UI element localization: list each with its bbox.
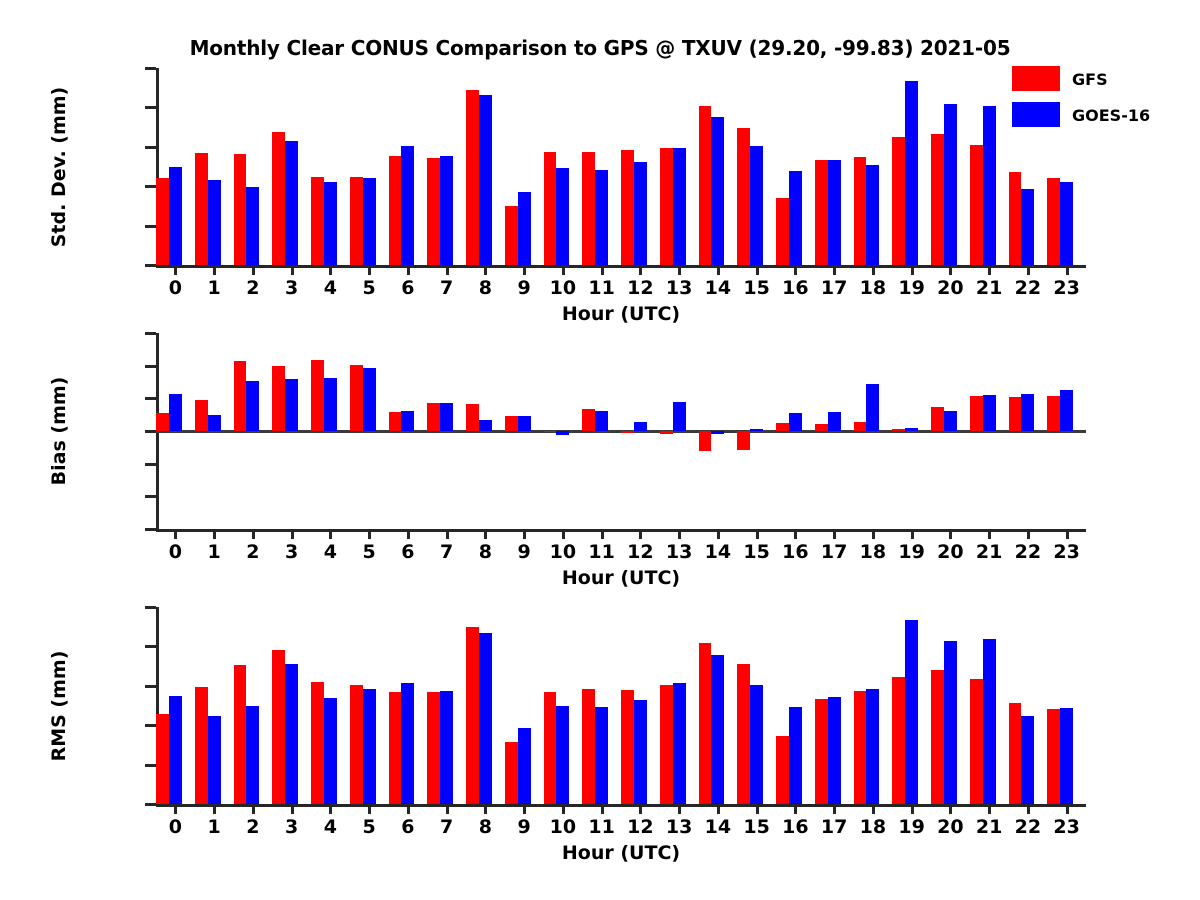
x-axis-tick-label: 17 xyxy=(821,541,847,563)
bar-goes-16-hour-5 xyxy=(363,178,376,265)
x-axis-tick-label: 22 xyxy=(1015,541,1041,563)
bar-goes-16-hour-16 xyxy=(789,413,802,431)
x-axis-tick xyxy=(562,529,565,539)
x-axis-tick xyxy=(639,265,642,275)
x-axis-tick-label: 6 xyxy=(401,541,414,563)
bar-goes-16-hour-14 xyxy=(711,117,724,265)
x-axis-tick-label: 9 xyxy=(518,816,531,838)
bar-gfs-hour-8 xyxy=(466,404,479,431)
bar-goes-16-hour-21 xyxy=(983,395,996,431)
x-axis-tick xyxy=(329,265,332,275)
x-axis-tick-label: 16 xyxy=(782,541,808,563)
figure-canvas: Monthly Clear CONUS Comparison to GPS @ … xyxy=(0,0,1200,900)
x-axis-tick xyxy=(252,804,255,814)
x-axis-tick-label: 1 xyxy=(208,277,221,299)
bar-gfs-hour-9 xyxy=(505,416,518,431)
x-axis-tick xyxy=(794,804,797,814)
bar-gfs-hour-19 xyxy=(892,137,905,265)
x-axis-tick-label: 13 xyxy=(666,816,692,838)
y-axis-tick xyxy=(145,803,156,806)
y-axis-tick xyxy=(145,685,156,688)
bar-gfs-hour-21 xyxy=(970,145,983,265)
x-axis-tick xyxy=(601,804,604,814)
x-axis-tick-label: 12 xyxy=(627,541,653,563)
x-axis-tick-label: 14 xyxy=(705,816,731,838)
x-axis-tick xyxy=(329,804,332,814)
bar-goes-16-hour-12 xyxy=(634,162,647,265)
x-axis-tick xyxy=(174,804,177,814)
y-axis-tick xyxy=(145,106,156,109)
x-axis-tick xyxy=(639,529,642,539)
bar-goes-16-hour-9 xyxy=(518,728,531,804)
bar-goes-16-hour-11 xyxy=(595,170,608,265)
x-axis-tick xyxy=(407,804,410,814)
x-axis-tick-label: 11 xyxy=(588,277,614,299)
x-axis-line xyxy=(156,529,1086,532)
bar-goes-16-hour-9 xyxy=(518,192,531,265)
x-axis-tick-label: 10 xyxy=(550,816,576,838)
bar-goes-16-hour-12 xyxy=(634,422,647,431)
y-axis-title: Std. Dev. (mm) xyxy=(48,68,70,265)
bar-goes-16-hour-4 xyxy=(324,378,337,431)
bar-gfs-hour-10 xyxy=(544,692,557,804)
x-axis-tick xyxy=(368,529,371,539)
bar-gfs-hour-18 xyxy=(854,157,867,265)
x-axis-tick-label: 13 xyxy=(666,277,692,299)
y-axis-tick xyxy=(145,463,156,466)
bar-gfs-hour-20 xyxy=(931,407,944,432)
bar-gfs-hour-14 xyxy=(699,643,712,804)
x-axis-line xyxy=(156,265,1086,268)
x-axis-tick-label: 8 xyxy=(479,541,492,563)
panel-bias: -3-2-10123012345678910111213141516171819… xyxy=(156,333,1086,529)
bar-gfs-hour-12 xyxy=(621,690,634,804)
x-axis-tick-label: 4 xyxy=(324,816,337,838)
y-axis-tick xyxy=(145,764,156,767)
bar-gfs-hour-22 xyxy=(1009,703,1022,804)
bar-gfs-hour-4 xyxy=(311,360,324,431)
x-axis-title: Hour (UTC) xyxy=(156,303,1086,325)
x-axis-tick-label: 21 xyxy=(976,277,1002,299)
bar-goes-16-hour-9 xyxy=(518,416,531,431)
bar-goes-16-hour-23 xyxy=(1060,708,1073,804)
x-axis-tick-label: 19 xyxy=(898,541,924,563)
bar-goes-16-hour-20 xyxy=(944,641,957,804)
x-axis-tick-label: 5 xyxy=(363,277,376,299)
x-axis-tick-label: 18 xyxy=(860,541,886,563)
bar-goes-16-hour-12 xyxy=(634,700,647,804)
x-axis-tick xyxy=(756,529,759,539)
bar-gfs-hour-0 xyxy=(156,413,169,431)
bar-gfs-hour-4 xyxy=(311,177,324,265)
bar-goes-16-hour-17 xyxy=(828,160,841,265)
x-axis-tick xyxy=(678,804,681,814)
y-axis-tick xyxy=(145,397,156,400)
bar-goes-16-hour-21 xyxy=(983,106,996,265)
x-axis-tick xyxy=(562,265,565,275)
x-axis-tick xyxy=(174,265,177,275)
bar-gfs-hour-8 xyxy=(466,627,479,804)
bar-goes-16-hour-18 xyxy=(866,165,879,265)
bar-goes-16-hour-22 xyxy=(1021,394,1034,431)
x-axis-tick-label: 10 xyxy=(550,277,576,299)
x-axis-line xyxy=(156,804,1086,807)
x-axis-tick xyxy=(523,265,526,275)
x-axis-tick xyxy=(717,265,720,275)
x-axis-tick xyxy=(446,265,449,275)
bar-goes-16-hour-0 xyxy=(169,394,182,431)
x-axis-tick-label: 23 xyxy=(1053,277,1079,299)
bar-goes-16-hour-22 xyxy=(1021,189,1034,265)
x-axis-tick-label: 0 xyxy=(169,816,182,838)
x-axis-tick xyxy=(949,265,952,275)
x-axis-tick xyxy=(872,265,875,275)
x-axis-tick xyxy=(446,804,449,814)
y-axis-tick xyxy=(145,332,156,335)
x-axis-tick-label: 12 xyxy=(627,277,653,299)
x-axis-tick xyxy=(794,265,797,275)
x-axis-tick xyxy=(368,804,371,814)
x-axis-tick xyxy=(1027,265,1030,275)
bar-gfs-hour-6 xyxy=(389,692,402,804)
x-axis-tick-label: 15 xyxy=(743,541,769,563)
bar-gfs-hour-21 xyxy=(970,396,983,431)
bar-goes-16-hour-8 xyxy=(479,420,492,431)
bar-goes-16-hour-7 xyxy=(440,403,453,431)
bar-gfs-hour-10 xyxy=(544,152,557,265)
bar-goes-16-hour-1 xyxy=(208,180,221,265)
x-axis-tick xyxy=(252,265,255,275)
x-axis-tick-label: 9 xyxy=(518,541,531,563)
bar-gfs-hour-20 xyxy=(931,670,944,804)
x-axis-title: Hour (UTC) xyxy=(156,567,1086,589)
bar-gfs-hour-5 xyxy=(350,685,363,804)
bar-gfs-hour-14 xyxy=(699,106,712,265)
bar-gfs-hour-18 xyxy=(854,691,867,804)
bar-goes-16-hour-19 xyxy=(905,620,918,804)
y-axis-title: Bias (mm) xyxy=(48,333,70,529)
bar-gfs-hour-9 xyxy=(505,206,518,265)
bar-gfs-hour-13 xyxy=(660,148,673,265)
x-axis-tick-label: 11 xyxy=(588,541,614,563)
x-axis-tick-label: 22 xyxy=(1015,277,1041,299)
x-axis-tick xyxy=(213,529,216,539)
x-axis-tick xyxy=(717,529,720,539)
x-axis-tick xyxy=(484,529,487,539)
bar-goes-16-hour-19 xyxy=(905,428,918,431)
x-axis-tick xyxy=(949,529,952,539)
x-axis-tick xyxy=(213,804,216,814)
x-axis-tick xyxy=(911,265,914,275)
panel-std-dev: 0123450123456789101112131415161718192021… xyxy=(156,68,1086,265)
x-axis-tick-label: 6 xyxy=(401,816,414,838)
x-axis-tick xyxy=(639,804,642,814)
bar-gfs-hour-18 xyxy=(854,422,867,431)
bar-goes-16-hour-7 xyxy=(440,691,453,804)
bar-gfs-hour-22 xyxy=(1009,397,1022,431)
x-axis-tick xyxy=(174,529,177,539)
x-axis-tick xyxy=(368,265,371,275)
bar-gfs-hour-19 xyxy=(892,429,905,431)
x-axis-tick-label: 1 xyxy=(208,816,221,838)
bar-gfs-hour-23 xyxy=(1047,396,1060,431)
x-axis-tick xyxy=(484,804,487,814)
x-axis-tick-label: 8 xyxy=(479,816,492,838)
bar-goes-16-hour-4 xyxy=(324,698,337,804)
bar-gfs-hour-17 xyxy=(815,424,828,431)
bar-gfs-hour-7 xyxy=(427,692,440,804)
bar-goes-16-hour-8 xyxy=(479,95,492,265)
x-axis-tick-label: 7 xyxy=(440,277,453,299)
x-axis-tick xyxy=(213,265,216,275)
bar-goes-16-hour-10 xyxy=(556,706,569,804)
bar-gfs-hour-7 xyxy=(427,403,440,431)
x-axis-tick xyxy=(291,265,294,275)
bar-goes-16-hour-16 xyxy=(789,171,802,265)
bar-goes-16-hour-17 xyxy=(828,697,841,804)
bar-gfs-hour-12 xyxy=(621,150,634,265)
x-axis-tick xyxy=(291,529,294,539)
bar-goes-16-hour-21 xyxy=(983,639,996,804)
bar-gfs-hour-10 xyxy=(544,431,557,432)
x-axis-tick xyxy=(949,804,952,814)
bar-goes-16-hour-11 xyxy=(595,411,608,431)
bar-goes-16-hour-22 xyxy=(1021,716,1034,804)
x-axis-tick-label: 7 xyxy=(440,541,453,563)
y-axis-tick xyxy=(145,225,156,228)
bar-goes-16-hour-14 xyxy=(711,431,724,434)
bar-gfs-hour-23 xyxy=(1047,178,1060,265)
x-axis-tick-label: 9 xyxy=(518,277,531,299)
x-axis-tick-label: 23 xyxy=(1053,816,1079,838)
bar-gfs-hour-16 xyxy=(776,423,789,431)
bar-gfs-hour-0 xyxy=(156,714,169,804)
x-axis-tick-label: 20 xyxy=(937,541,963,563)
x-axis-tick xyxy=(601,265,604,275)
x-axis-tick-label: 2 xyxy=(246,277,259,299)
x-axis-title: Hour (UTC) xyxy=(156,842,1086,864)
x-axis-tick xyxy=(678,265,681,275)
bar-goes-16-hour-13 xyxy=(673,683,686,804)
x-axis-tick-label: 5 xyxy=(363,816,376,838)
bar-goes-16-hour-1 xyxy=(208,716,221,804)
bar-gfs-hour-1 xyxy=(195,400,208,431)
x-axis-tick-label: 13 xyxy=(666,541,692,563)
y-axis-title: RMS (mm) xyxy=(48,607,70,804)
bar-gfs-hour-11 xyxy=(582,689,595,804)
bar-goes-16-hour-10 xyxy=(556,168,569,265)
x-axis-tick xyxy=(911,804,914,814)
bar-goes-16-hour-20 xyxy=(944,104,957,265)
x-axis-tick-label: 6 xyxy=(401,277,414,299)
y-axis-tick xyxy=(145,645,156,648)
bar-gfs-hour-15 xyxy=(737,431,750,450)
x-axis-tick xyxy=(1066,529,1069,539)
y-axis-tick xyxy=(145,606,156,609)
x-axis-tick xyxy=(833,265,836,275)
bar-goes-16-hour-20 xyxy=(944,411,957,431)
bar-gfs-hour-12 xyxy=(621,431,634,433)
bar-gfs-hour-2 xyxy=(234,361,247,431)
y-axis-tick xyxy=(145,724,156,727)
bar-goes-16-hour-0 xyxy=(169,167,182,265)
x-axis-tick xyxy=(794,529,797,539)
bar-gfs-hour-5 xyxy=(350,177,363,265)
x-axis-tick-label: 14 xyxy=(705,277,731,299)
x-axis-tick xyxy=(872,529,875,539)
bar-goes-16-hour-15 xyxy=(750,146,763,265)
x-axis-tick-label: 7 xyxy=(440,816,453,838)
bar-gfs-hour-3 xyxy=(272,366,285,431)
x-axis-tick xyxy=(601,529,604,539)
x-axis-tick-label: 8 xyxy=(479,277,492,299)
y-axis-tick xyxy=(145,430,156,433)
x-axis-tick xyxy=(678,529,681,539)
figure-title: Monthly Clear CONUS Comparison to GPS @ … xyxy=(0,36,1200,60)
x-axis-tick xyxy=(407,529,410,539)
bar-gfs-hour-6 xyxy=(389,412,402,431)
bar-goes-16-hour-1 xyxy=(208,415,221,431)
bar-goes-16-hour-15 xyxy=(750,685,763,804)
bar-gfs-hour-3 xyxy=(272,650,285,804)
bar-gfs-hour-16 xyxy=(776,736,789,804)
bar-goes-16-hour-7 xyxy=(440,156,453,265)
panel-rms: 0123450123456789101112131415161718192021… xyxy=(156,607,1086,804)
x-axis-tick-label: 20 xyxy=(937,277,963,299)
bar-goes-16-hour-18 xyxy=(866,689,879,804)
x-axis-tick-label: 0 xyxy=(169,277,182,299)
x-axis-tick-label: 3 xyxy=(285,277,298,299)
bar-goes-16-hour-17 xyxy=(828,412,841,431)
x-axis-tick xyxy=(252,529,255,539)
bar-goes-16-hour-3 xyxy=(285,664,298,804)
bar-goes-16-hour-23 xyxy=(1060,182,1073,265)
bar-goes-16-hour-16 xyxy=(789,707,802,804)
bar-gfs-hour-23 xyxy=(1047,709,1060,804)
x-axis-tick-label: 2 xyxy=(246,816,259,838)
bar-gfs-hour-15 xyxy=(737,664,750,804)
x-axis-tick-label: 10 xyxy=(550,541,576,563)
bar-gfs-hour-9 xyxy=(505,742,518,804)
bar-gfs-hour-2 xyxy=(234,154,247,265)
bar-gfs-hour-2 xyxy=(234,665,247,804)
x-axis-tick-label: 23 xyxy=(1053,541,1079,563)
x-axis-tick-label: 14 xyxy=(705,541,731,563)
bar-gfs-hour-6 xyxy=(389,156,402,265)
x-axis-tick-label: 18 xyxy=(860,816,886,838)
bar-gfs-hour-20 xyxy=(931,134,944,265)
bar-gfs-hour-21 xyxy=(970,679,983,804)
bar-gfs-hour-3 xyxy=(272,132,285,265)
bar-goes-16-hour-6 xyxy=(401,146,414,265)
bar-goes-16-hour-5 xyxy=(363,689,376,804)
bar-gfs-hour-7 xyxy=(427,158,440,265)
x-axis-tick xyxy=(872,804,875,814)
bar-gfs-hour-17 xyxy=(815,699,828,804)
x-axis-tick-label: 20 xyxy=(937,816,963,838)
x-axis-tick-label: 16 xyxy=(782,277,808,299)
bar-gfs-hour-11 xyxy=(582,152,595,265)
x-axis-tick xyxy=(1027,804,1030,814)
x-axis-tick-label: 17 xyxy=(821,816,847,838)
y-axis-tick xyxy=(145,185,156,188)
bar-goes-16-hour-2 xyxy=(246,381,259,431)
bar-gfs-hour-17 xyxy=(815,160,828,265)
x-axis-tick-label: 16 xyxy=(782,816,808,838)
bar-goes-16-hour-14 xyxy=(711,655,724,804)
x-axis-tick-label: 12 xyxy=(627,816,653,838)
bar-goes-16-hour-18 xyxy=(866,384,879,431)
x-axis-tick xyxy=(1027,529,1030,539)
bar-goes-16-hour-13 xyxy=(673,402,686,431)
bar-gfs-hour-22 xyxy=(1009,172,1022,265)
x-axis-tick-label: 4 xyxy=(324,277,337,299)
x-axis-tick xyxy=(484,265,487,275)
bar-gfs-hour-16 xyxy=(776,198,789,265)
bar-gfs-hour-11 xyxy=(582,409,595,431)
bar-gfs-hour-19 xyxy=(892,677,905,804)
bar-goes-16-hour-0 xyxy=(169,696,182,804)
bar-goes-16-hour-6 xyxy=(401,683,414,804)
bar-gfs-hour-13 xyxy=(660,685,673,804)
bar-goes-16-hour-2 xyxy=(246,187,259,265)
bar-goes-16-hour-13 xyxy=(673,148,686,265)
bar-gfs-hour-1 xyxy=(195,153,208,265)
y-axis-tick xyxy=(145,67,156,70)
bar-goes-16-hour-10 xyxy=(556,431,569,435)
x-axis-tick-label: 2 xyxy=(246,541,259,563)
bar-gfs-hour-0 xyxy=(156,178,169,265)
y-axis-tick xyxy=(145,264,156,267)
bar-goes-16-hour-19 xyxy=(905,81,918,265)
bar-goes-16-hour-11 xyxy=(595,707,608,804)
x-axis-tick-label: 0 xyxy=(169,541,182,563)
x-axis-tick-label: 15 xyxy=(743,277,769,299)
x-axis-tick-label: 21 xyxy=(976,541,1002,563)
x-axis-tick-label: 5 xyxy=(363,541,376,563)
x-axis-tick xyxy=(562,804,565,814)
x-axis-tick xyxy=(988,804,991,814)
x-axis-tick-label: 17 xyxy=(821,277,847,299)
x-axis-tick xyxy=(523,529,526,539)
bar-gfs-hour-4 xyxy=(311,682,324,804)
y-axis-tick xyxy=(145,146,156,149)
x-axis-tick xyxy=(523,804,526,814)
x-axis-tick xyxy=(407,265,410,275)
x-axis-tick xyxy=(1066,265,1069,275)
x-axis-tick xyxy=(717,804,720,814)
bar-gfs-hour-15 xyxy=(737,128,750,265)
x-axis-tick xyxy=(1066,804,1069,814)
x-axis-tick xyxy=(756,265,759,275)
bar-goes-16-hour-15 xyxy=(750,429,763,431)
x-axis-tick-label: 19 xyxy=(898,277,924,299)
y-axis-tick xyxy=(145,365,156,368)
bar-gfs-hour-13 xyxy=(660,431,673,434)
x-axis-tick xyxy=(988,265,991,275)
x-axis-tick xyxy=(911,529,914,539)
bar-goes-16-hour-23 xyxy=(1060,390,1073,431)
x-axis-tick-label: 3 xyxy=(285,816,298,838)
bar-gfs-hour-1 xyxy=(195,687,208,804)
bar-gfs-hour-8 xyxy=(466,90,479,265)
x-axis-tick xyxy=(833,529,836,539)
x-axis-tick-label: 11 xyxy=(588,816,614,838)
x-axis-tick-label: 22 xyxy=(1015,816,1041,838)
y-axis-tick xyxy=(145,528,156,531)
x-axis-tick-label: 4 xyxy=(324,541,337,563)
x-axis-tick xyxy=(756,804,759,814)
